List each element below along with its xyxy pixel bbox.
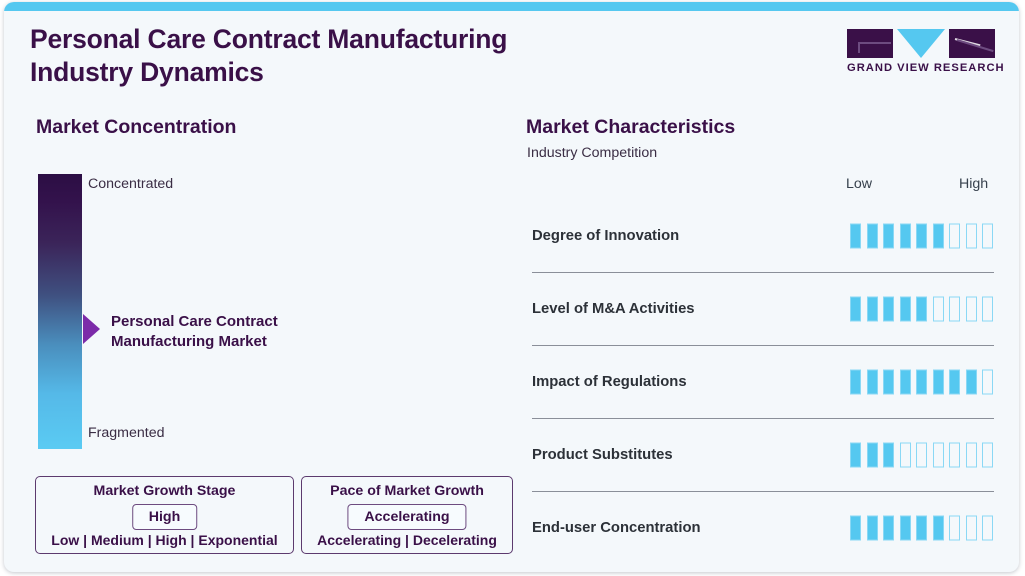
pace-of-market-growth-value: Accelerating bbox=[347, 504, 466, 530]
rating-bar-filled bbox=[933, 370, 944, 395]
rating-bars bbox=[850, 443, 993, 468]
rating-bar-filled bbox=[867, 516, 878, 541]
rating-bar-empty bbox=[949, 443, 960, 468]
rating-bar-filled bbox=[916, 370, 927, 395]
rating-bar-empty bbox=[916, 443, 927, 468]
rating-bar-empty bbox=[933, 297, 944, 322]
rating-bar-empty bbox=[949, 297, 960, 322]
rating-bar-filled bbox=[933, 224, 944, 249]
characteristic-label: End-user Concentration bbox=[532, 520, 701, 536]
characteristic-label: Product Substitutes bbox=[532, 447, 673, 463]
rating-bar-empty bbox=[949, 224, 960, 249]
characteristic-label: Impact of Regulations bbox=[532, 374, 687, 390]
rating-bar-filled bbox=[883, 443, 894, 468]
characteristic-row: Product Substitutes bbox=[532, 418, 994, 491]
page-title-line-1: Personal Care Contract Manufacturing bbox=[30, 23, 670, 56]
characteristic-label: Level of M&A Activities bbox=[532, 301, 695, 317]
market-characteristics-heading: Market Characteristics bbox=[526, 116, 735, 139]
rating-bar-filled bbox=[883, 370, 894, 395]
rating-bar-filled bbox=[867, 297, 878, 322]
logo-marks bbox=[847, 29, 995, 58]
market-position-label-line-1: Personal Care Contract bbox=[111, 312, 341, 332]
rating-bar-filled bbox=[916, 224, 927, 249]
characteristic-row: Degree of Innovation bbox=[532, 200, 994, 272]
scale-high-label: High bbox=[959, 176, 988, 192]
rating-bar-filled bbox=[933, 516, 944, 541]
concentration-top-label: Concentrated bbox=[88, 176, 173, 192]
characteristics-list: Degree of InnovationLevel of M&A Activit… bbox=[532, 200, 994, 564]
rating-bars bbox=[850, 370, 993, 395]
rating-bar-filled bbox=[850, 370, 861, 395]
rating-bar-filled bbox=[900, 516, 911, 541]
page-title-line-2: Industry Dynamics bbox=[30, 56, 670, 89]
market-concentration-heading: Market Concentration bbox=[36, 116, 236, 139]
rating-bar-filled bbox=[850, 224, 861, 249]
rating-bar-empty bbox=[966, 443, 977, 468]
characteristic-row: End-user Concentration bbox=[532, 491, 994, 564]
top-accent-bar bbox=[4, 2, 1019, 11]
rating-bar-filled bbox=[900, 297, 911, 322]
rating-bar-filled bbox=[867, 370, 878, 395]
rating-bar-empty bbox=[982, 370, 993, 395]
rating-bar-empty bbox=[982, 516, 993, 541]
logo-block-left-icon bbox=[847, 29, 893, 58]
characteristic-label: Degree of Innovation bbox=[532, 228, 679, 244]
rating-bar-empty bbox=[966, 297, 977, 322]
rating-bar-filled bbox=[883, 297, 894, 322]
market-growth-stage-value: High bbox=[132, 504, 198, 530]
rating-bars bbox=[850, 297, 993, 322]
rating-bar-filled bbox=[949, 370, 960, 395]
rating-bars bbox=[850, 516, 993, 541]
pace-of-market-growth-title: Pace of Market Growth bbox=[302, 483, 512, 499]
rating-bar-empty bbox=[933, 443, 944, 468]
page-title: Personal Care Contract Manufacturing Ind… bbox=[30, 23, 670, 88]
rating-bar-empty bbox=[966, 224, 977, 249]
market-growth-stage-title: Market Growth Stage bbox=[36, 483, 293, 499]
rating-bar-filled bbox=[867, 443, 878, 468]
pace-of-market-growth-box: Pace of Market Growth Accelerating Accel… bbox=[301, 476, 513, 554]
market-position-arrow-icon bbox=[83, 314, 100, 344]
rating-bar-filled bbox=[867, 224, 878, 249]
market-position-label-line-2: Manufacturing Market bbox=[111, 332, 341, 352]
logo-triangle-icon bbox=[897, 29, 945, 58]
rating-bar-filled bbox=[850, 443, 861, 468]
rating-bar-empty bbox=[949, 516, 960, 541]
rating-bar-filled bbox=[883, 224, 894, 249]
rating-bar-filled bbox=[883, 516, 894, 541]
rating-bar-filled bbox=[916, 516, 927, 541]
market-growth-stage-box: Market Growth Stage High Low | Medium | … bbox=[35, 476, 294, 554]
brand-logo: GRAND VIEW RESEARCH bbox=[847, 29, 995, 77]
rating-bar-filled bbox=[850, 516, 861, 541]
rating-bar-filled bbox=[916, 297, 927, 322]
rating-bar-empty bbox=[966, 516, 977, 541]
scale-low-label: Low bbox=[846, 176, 872, 192]
infographic-card: Personal Care Contract Manufacturing Ind… bbox=[4, 2, 1019, 572]
rating-bar-filled bbox=[900, 370, 911, 395]
rating-bars bbox=[850, 224, 993, 249]
rating-bar-empty bbox=[982, 443, 993, 468]
logo-block-right-icon bbox=[949, 29, 995, 58]
rating-bar-filled bbox=[966, 370, 977, 395]
rating-bar-empty bbox=[900, 443, 911, 468]
market-growth-stage-scale: Low | Medium | High | Exponential bbox=[36, 532, 293, 548]
market-position-label: Personal Care Contract Manufacturing Mar… bbox=[111, 312, 341, 352]
rating-bar-empty bbox=[982, 297, 993, 322]
rating-bar-filled bbox=[850, 297, 861, 322]
logo-wordmark: GRAND VIEW RESEARCH bbox=[847, 62, 995, 74]
pace-of-market-growth-scale: Accelerating | Decelerating bbox=[302, 532, 512, 548]
industry-competition-subheading: Industry Competition bbox=[527, 145, 657, 161]
concentration-bottom-label: Fragmented bbox=[88, 425, 165, 441]
rating-bar-filled bbox=[900, 224, 911, 249]
concentration-gradient-bar bbox=[38, 174, 82, 449]
characteristic-row: Impact of Regulations bbox=[532, 345, 994, 418]
characteristic-row: Level of M&A Activities bbox=[532, 272, 994, 345]
rating-bar-empty bbox=[982, 224, 993, 249]
